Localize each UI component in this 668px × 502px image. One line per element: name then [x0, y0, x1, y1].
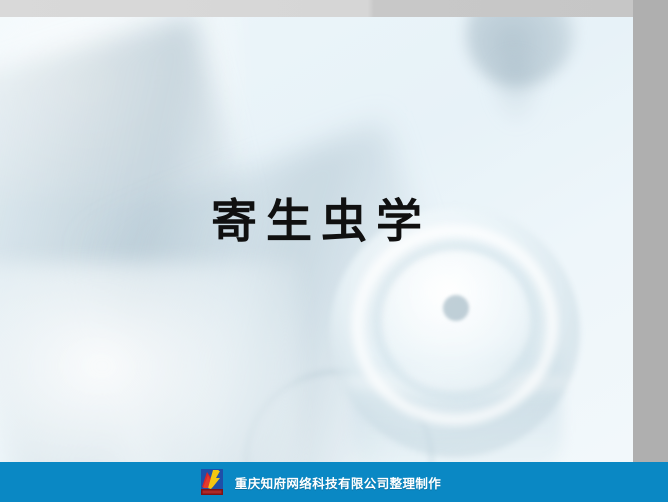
presentation-slide[interactable]: 寄生虫学: [0, 17, 633, 462]
stethoscope-chestpiece-dot: [443, 295, 469, 321]
slide-viewer: 寄生虫学 重庆知府网络科技有限公司整理制作: [0, 0, 668, 502]
stethoscope-earpiece-stem: [488, 57, 544, 127]
footer-credit-text: 重庆知府网络科技有限公司整理制作: [235, 473, 441, 492]
company-logo-icon: [199, 467, 225, 497]
window-top-strip: [0, 0, 668, 17]
footer-content: 重庆知府网络科技有限公司整理制作: [199, 467, 441, 497]
slide-title: 寄生虫学: [0, 193, 633, 249]
background-highlight-bottom-left: [0, 262, 300, 462]
footer-banner: 重庆知府网络科技有限公司整理制作: [0, 462, 668, 502]
window-right-gutter: [633, 0, 668, 502]
